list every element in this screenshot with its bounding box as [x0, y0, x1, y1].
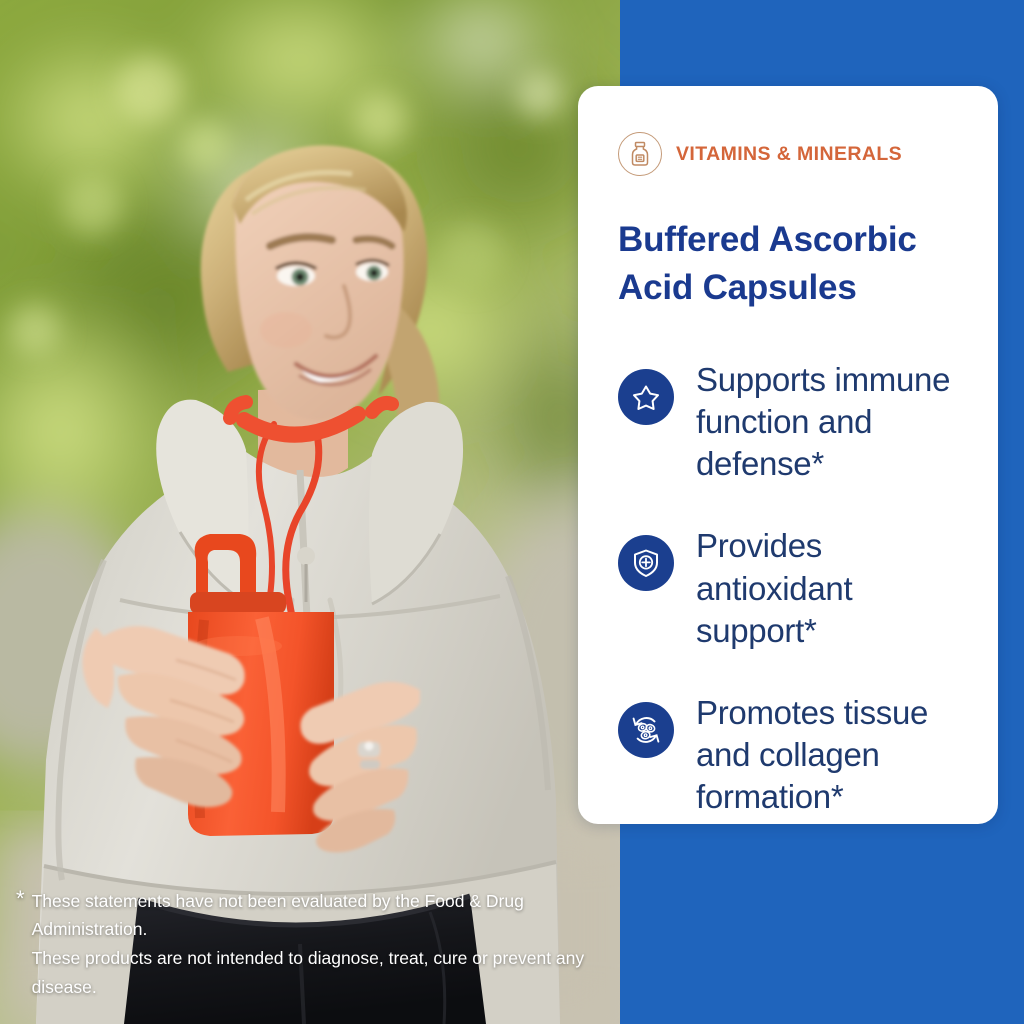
cell-renewal-icon	[618, 702, 674, 758]
disclaimer-line-1: These statements have not been evaluated…	[32, 887, 616, 945]
list-item: Provides antioxidant support*	[618, 525, 964, 652]
supplement-bottle-icon	[618, 132, 662, 176]
page-title: Buffered Ascorbic Acid Capsules	[618, 216, 948, 313]
category-label: VITAMINS & MINERALS	[676, 143, 902, 166]
photo-illustration	[0, 0, 620, 1024]
category-badge: VITAMINS & MINERALS	[618, 132, 964, 176]
star-icon	[618, 369, 674, 425]
infographic-canvas: VITAMINS & MINERALS Buffered Ascorbic Ac…	[0, 0, 1024, 1024]
benefits-list: Supports immune function and defense* Pr…	[618, 359, 964, 819]
disclaimer-line-2: These products are not intended to diagn…	[32, 944, 616, 1002]
shield-plus-icon	[618, 535, 674, 591]
product-info-card: VITAMINS & MINERALS Buffered Ascorbic Ac…	[578, 86, 998, 824]
list-item: Supports immune function and defense*	[618, 359, 964, 486]
benefit-text: Supports immune function and defense*	[696, 359, 964, 486]
list-item: Promotes tissue and collagen formation*	[618, 692, 964, 819]
disclaimer-asterisk: *	[16, 887, 25, 911]
disclaimer-lines: These statements have not been evaluated…	[32, 887, 616, 1003]
lifestyle-photo	[0, 0, 620, 1024]
benefit-text: Provides antioxidant support*	[696, 525, 964, 652]
disclaimer: * These statements have not been evaluat…	[16, 887, 616, 1003]
benefit-text: Promotes tissue and collagen formation*	[696, 692, 964, 819]
